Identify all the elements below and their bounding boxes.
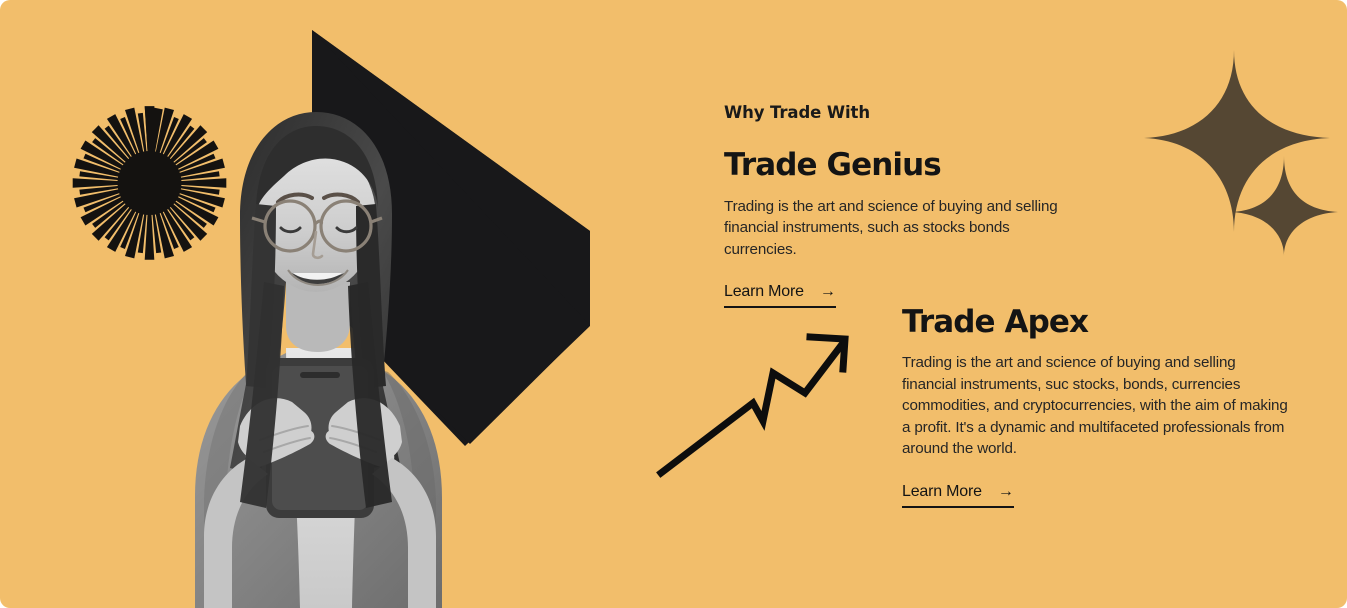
section-body: Trading is the art and science of buying…	[724, 196, 1064, 261]
learn-more-label: Learn More	[902, 483, 982, 501]
section-heading: Trade Genius	[724, 148, 1064, 182]
trade-genius-section: Why Trade With Trade Genius Trading is t…	[724, 103, 1064, 308]
section-eyebrow: Why Trade With	[724, 103, 1064, 123]
promo-banner: Why Trade With Trade Genius Trading is t…	[0, 0, 1347, 608]
arrow-right-icon: →	[998, 484, 1014, 500]
section-heading: Trade Apex	[902, 305, 1292, 339]
sparkle-group	[1142, 44, 1342, 259]
trade-apex-section: Trade Apex Trading is the art and scienc…	[902, 305, 1292, 508]
woman-with-phone-photo	[100, 96, 520, 608]
learn-more-link-genius[interactable]: Learn More →	[724, 283, 836, 308]
upward-trend-arrow-icon	[655, 325, 865, 480]
arrow-right-icon: →	[820, 284, 836, 300]
section-body: Trading is the art and science of buying…	[902, 352, 1292, 460]
learn-more-link-apex[interactable]: Learn More →	[902, 483, 1014, 508]
learn-more-label: Learn More	[724, 283, 804, 301]
